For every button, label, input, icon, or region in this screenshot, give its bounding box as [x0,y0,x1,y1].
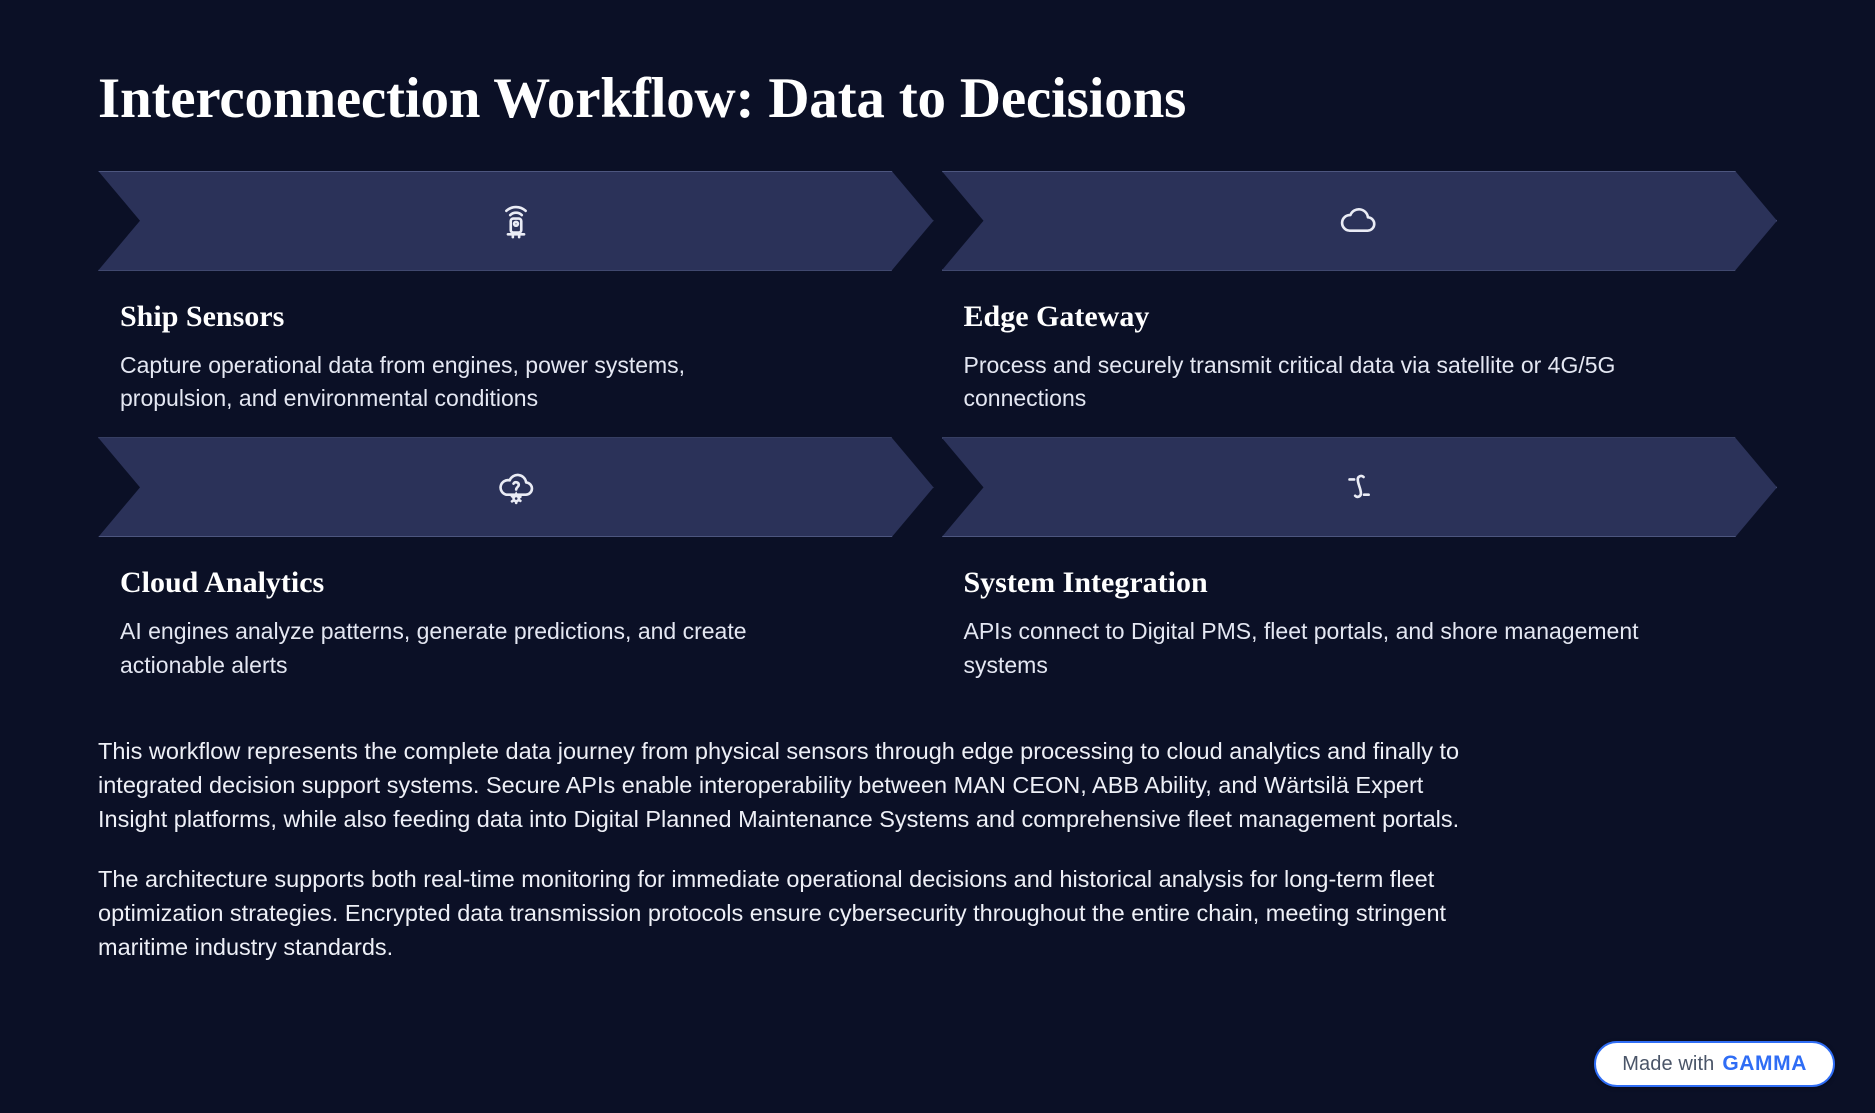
workflow-step-ship-sensors: Ship Sensors Capture operational data fr… [98,171,934,416]
workflow-step-system-integration: System Integration APIs connect to Digit… [942,415,1778,682]
step-title: System Integration [942,565,1778,601]
chevron-banner-3 [98,437,934,537]
cloud-question-icon [495,466,537,508]
integral-integration-icon [1338,466,1380,508]
step-title: Cloud Analytics [98,565,934,601]
step-title: Ship Sensors [98,299,934,335]
cloud-icon [1338,200,1380,242]
chevron-banner-2 [942,171,1778,271]
step-description: APIs connect to Digital PMS, fleet porta… [942,615,1642,682]
workflow-step-cloud-analytics: Cloud Analytics AI engines analyze patte… [98,415,934,682]
page-title: Interconnection Workflow: Data to Decisi… [98,0,1777,131]
chevron-banner-4 [942,437,1778,537]
step-title: Edge Gateway [942,299,1778,335]
slide-root: Interconnection Workflow: Data to Decisi… [0,0,1875,1113]
step-description: Process and securely transmit critical d… [942,349,1642,416]
sensor-signal-icon [495,200,537,242]
body-paragraph-2: The architecture supports both real-time… [98,862,1488,964]
badge-prefix-label: Made with [1622,1053,1714,1076]
step-description: AI engines analyze patterns, generate pr… [98,615,798,682]
step-description: Capture operational data from engines, p… [98,349,798,416]
workflow-steps-grid: Ship Sensors Capture operational data fr… [98,171,1777,682]
workflow-step-edge-gateway: Edge Gateway Process and securely transm… [942,171,1778,416]
body-copy: This workflow represents the complete da… [98,734,1777,964]
body-paragraph-1: This workflow represents the complete da… [98,734,1488,836]
badge-brand-label: GAMMA [1722,1052,1807,1076]
made-with-gamma-badge[interactable]: Made with GAMMA [1594,1041,1835,1087]
chevron-banner-1 [98,171,934,271]
